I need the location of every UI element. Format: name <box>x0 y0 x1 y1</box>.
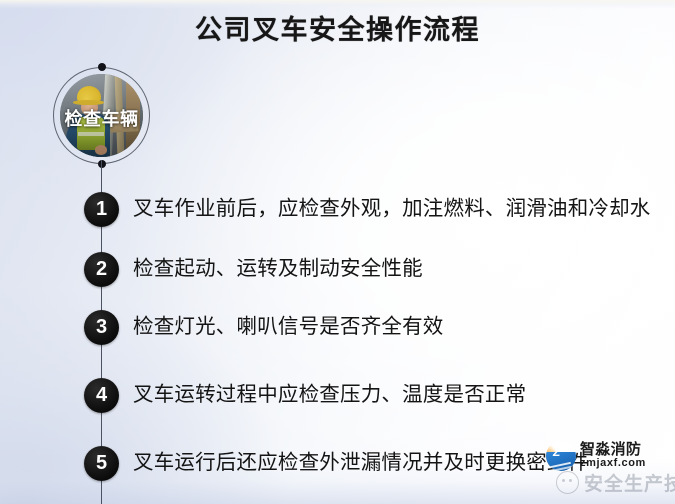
badge-label: 检查车辆 <box>53 105 150 131</box>
badge-dot-top-icon <box>98 63 106 71</box>
step-text: 叉车作业前后，应检查外观，加注燃料、润滑油和冷却水 <box>133 196 651 222</box>
step-number-marker: 2 <box>84 252 119 287</box>
step-number-marker: 3 <box>84 310 119 345</box>
step-text: 叉车运转过程中应检查压力、温度是否正常 <box>133 382 526 408</box>
ghost-watermark-text: 安全生产技术 <box>584 469 675 496</box>
brand-text-block: 智淼消防 zmjaxf.com <box>580 442 646 470</box>
step-text: 检查灯光、喇叭信号是否齐全有效 <box>133 314 444 340</box>
page-title: 公司叉车安全操作流程 <box>0 14 675 46</box>
ghost-watermark: 安全生产技术 <box>556 469 675 496</box>
step-number-marker: 1 <box>84 192 119 227</box>
step-number-marker: 5 <box>84 446 119 481</box>
logo-letter: Z <box>553 446 560 458</box>
brand-name: 智淼消防 <box>580 442 646 458</box>
step-text: 检查起动、运转及制动安全性能 <box>133 256 423 282</box>
brand-watermark: Z 智淼消防 zmjaxf.com <box>546 441 646 471</box>
check-vehicle-badge: 检查车辆 <box>53 67 150 164</box>
slide-canvas: 公司叉车安全操作流程 检查车辆 1 叉车作业前后，应检查外观，加注燃料、润滑油和… <box>0 0 675 504</box>
background-top-band <box>0 0 675 9</box>
brand-logo-icon: Z <box>546 441 576 471</box>
step-text: 叉车运行后还应检查外泄漏情况并及时更换密封件 <box>133 450 588 476</box>
step-number-marker: 4 <box>84 378 119 413</box>
wechat-icon <box>556 471 579 494</box>
